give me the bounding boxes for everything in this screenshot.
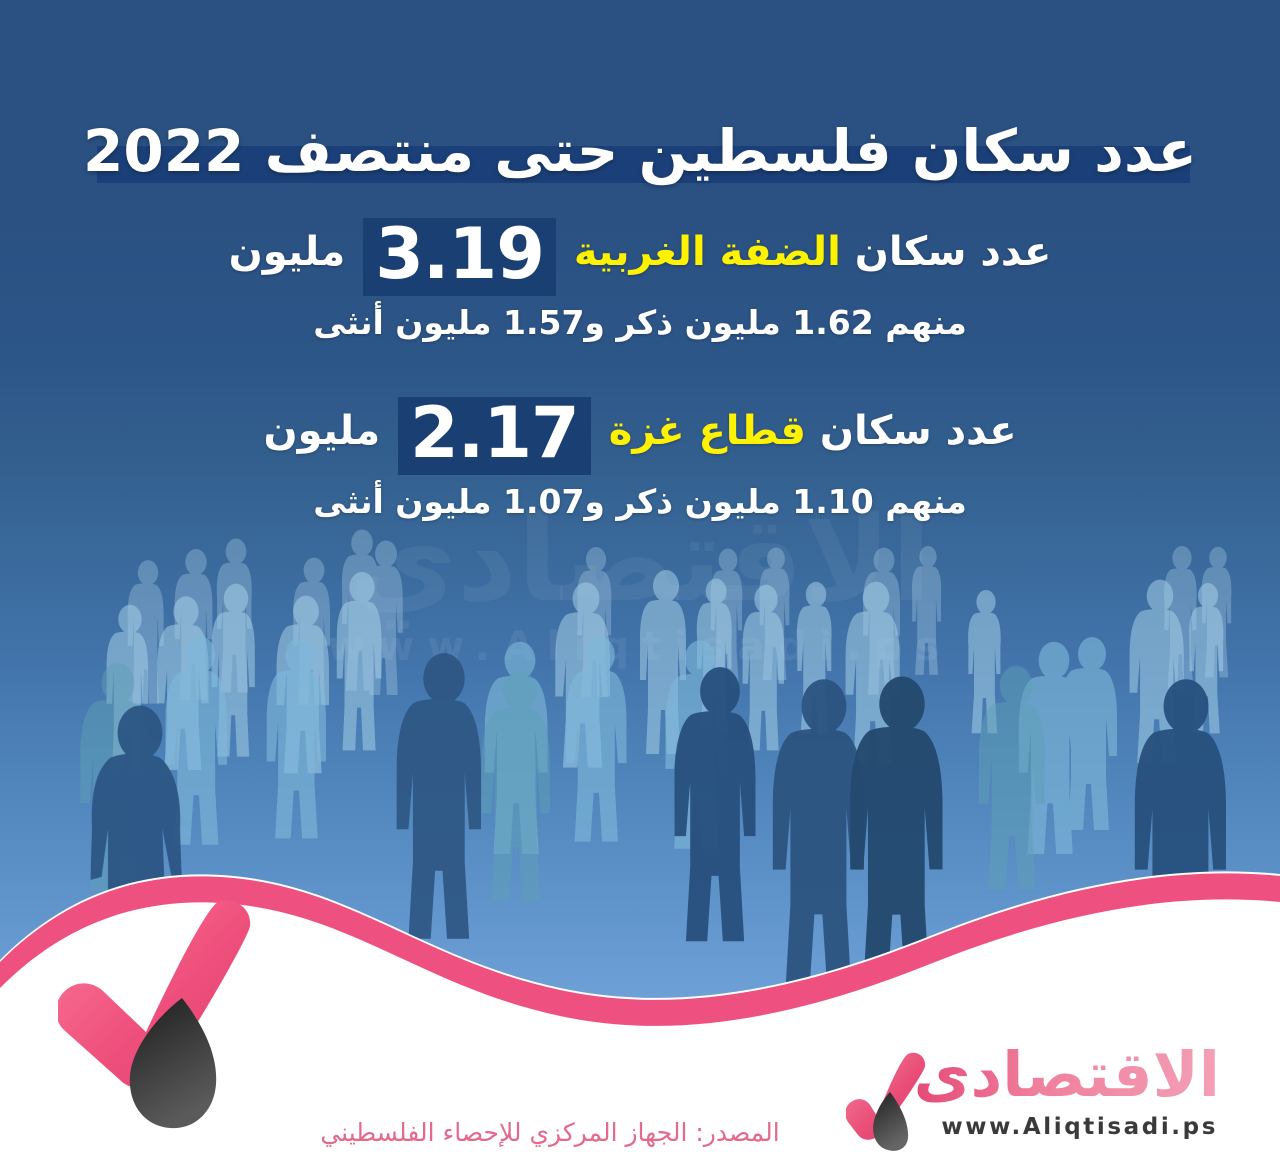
stat-block-gaza: عدد سكان قطاع غزة 2.17 مليون منهم 1.10 م… [40,397,1240,524]
page-title: عدد سكان فلسطين حتى منتصف 2022 [60,117,1220,185]
stat-breakdown-gaza: منهم 1.10 مليون ذكر و1.07 مليون أنثى [40,481,1240,524]
stat-headline-west-bank: عدد سكان الضفة الغربية 3.19 مليون [40,218,1240,296]
stat-breakdown-west-bank: منهم 1.62 مليون ذكر و1.57 مليون أنثى [40,302,1240,345]
brand-logo[interactable]: الاقتصادي www.Aliqtisadi.ps [830,1040,1220,1160]
stat-prefix-west-bank: عدد سكان [855,229,1052,275]
infographic-root: الاقتصادي www.Aliqtisadi.ps [0,0,1280,1170]
brand-name: الاقتصادي [914,1044,1220,1106]
stat-unit-west-bank: مليون [229,229,346,275]
brand-website-url[interactable]: www.Aliqtisadi.ps [941,1114,1218,1140]
stat-prefix-gaza: عدد سكان [820,408,1017,454]
statistics-section: عدد سكان الضفة الغربية 3.19 مليون منهم 1… [40,218,1240,548]
stat-headline-gaza: عدد سكان قطاع غزة 2.17 مليون [40,397,1240,475]
stat-unit-gaza: مليون [263,408,380,454]
stat-block-west-bank: عدد سكان الضفة الغربية 3.19 مليون منهم 1… [40,218,1240,345]
stat-value-gaza: 2.17 [398,397,591,475]
stat-region-west-bank: الضفة الغربية [574,229,841,275]
stat-region-gaza: قطاع غزة [609,408,806,454]
stat-value-west-bank: 3.19 [363,218,556,296]
